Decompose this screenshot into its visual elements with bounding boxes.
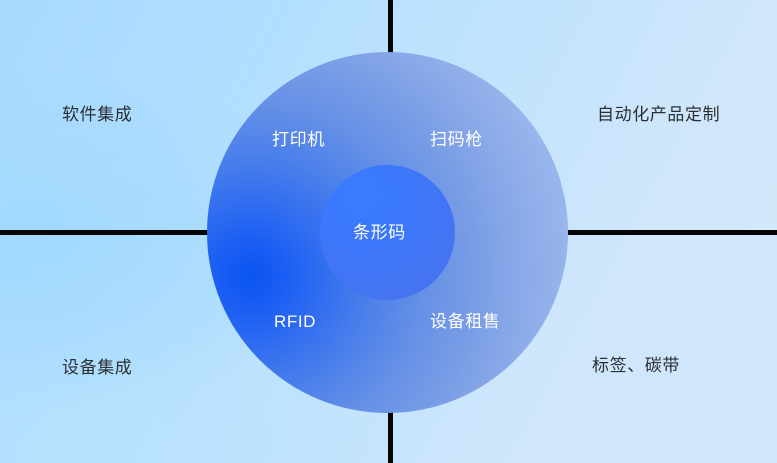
outer-label-top-right: 自动化产品定制 (597, 106, 720, 123)
ring-label-top-left: 打印机 (272, 131, 325, 148)
outer-label-top-left: 软件集成 (62, 106, 132, 123)
ring-label-bottom-left: RFID (274, 313, 316, 330)
diagram-canvas: 软件集成 自动化产品定制 设备集成 标签、碳带 打印机 扫码枪 RFID 设备租… (0, 0, 777, 463)
outer-label-bottom-right: 标签、碳带 (592, 357, 680, 374)
ring-label-bottom-right: 设备租售 (430, 313, 500, 330)
outer-label-bottom-left: 设备集成 (62, 359, 132, 376)
core-label: 条形码 (353, 224, 406, 241)
ring-label-top-right: 扫码枪 (430, 131, 483, 148)
